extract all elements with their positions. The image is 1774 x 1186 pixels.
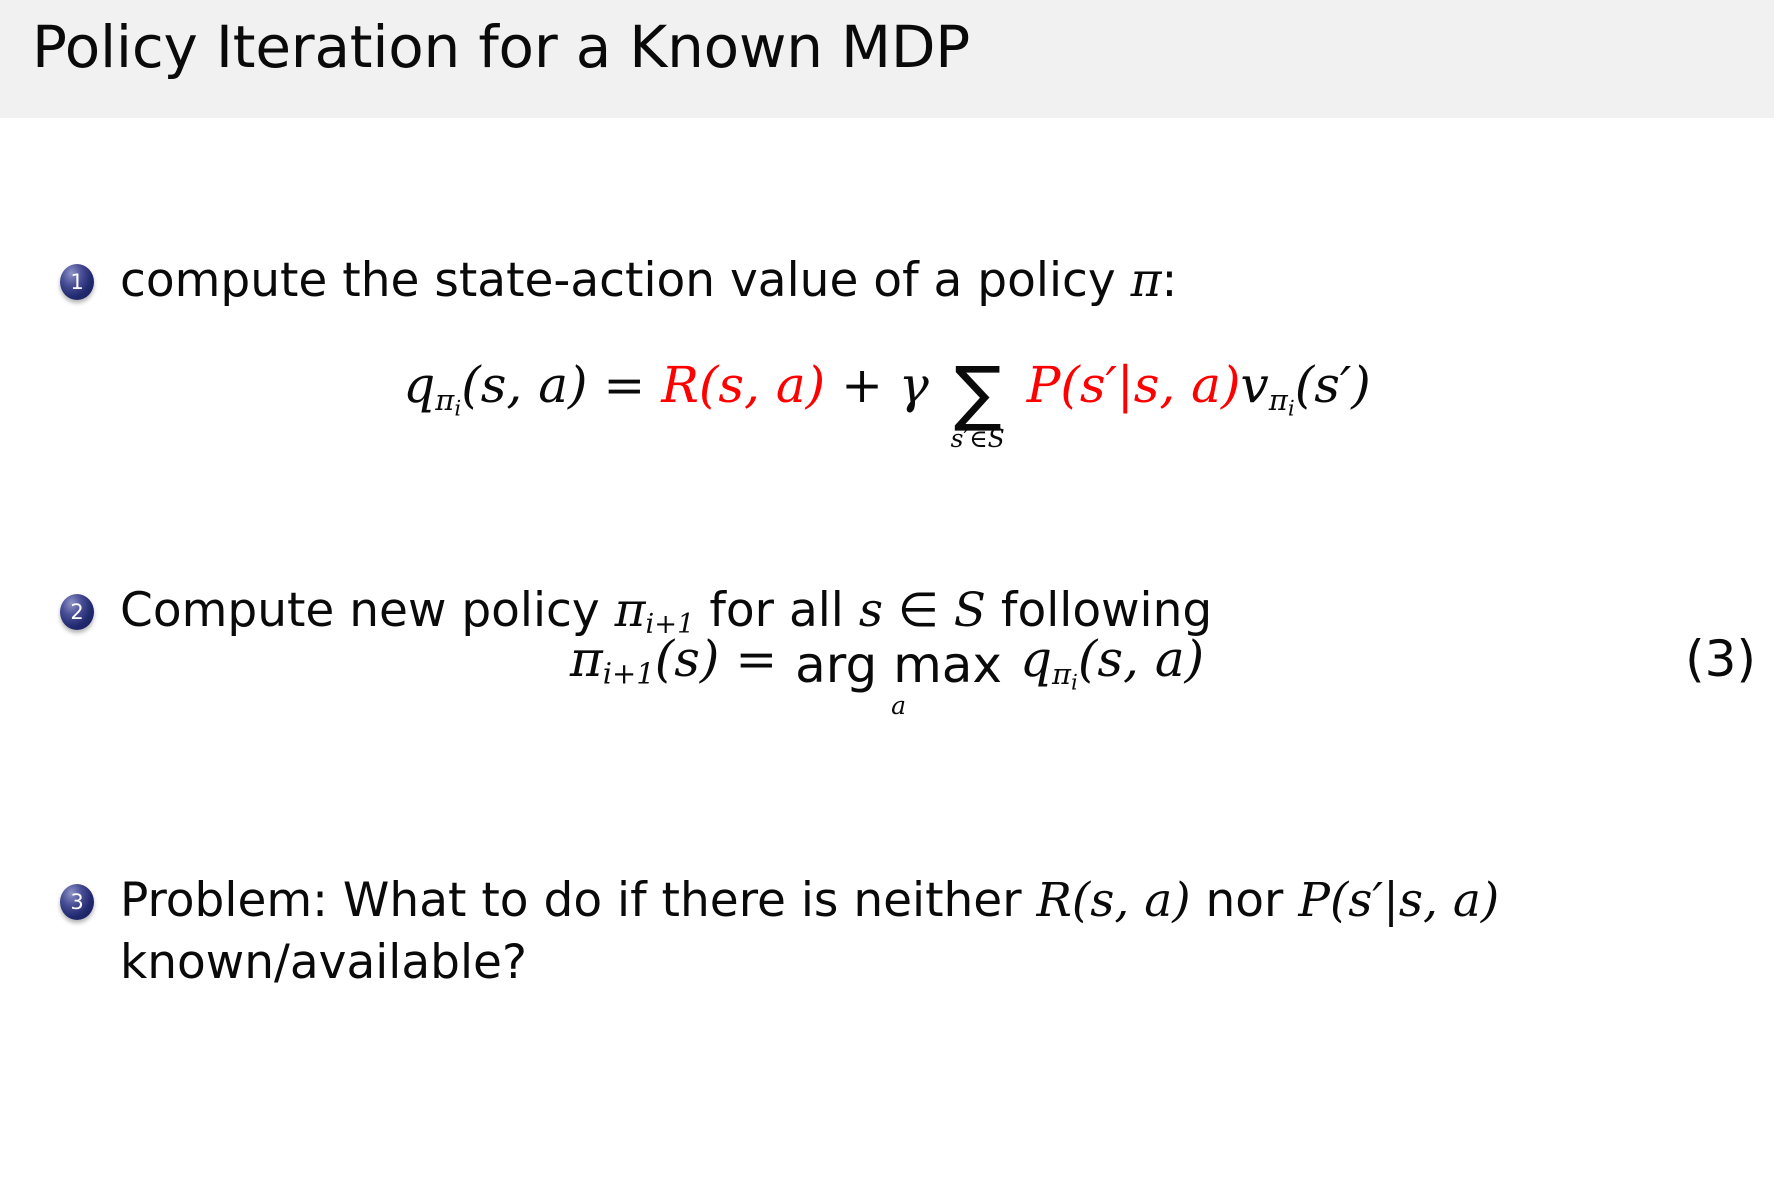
argmax-label: arg max bbox=[795, 636, 1002, 694]
q-function-symbol-2: q bbox=[1020, 630, 1052, 688]
reward-term: R(s, a) bbox=[1036, 873, 1190, 928]
summation-operator: ∑ s′∈S bbox=[951, 363, 1005, 453]
argmax-limit: a bbox=[891, 692, 906, 720]
pi-next-symbol: π bbox=[570, 630, 603, 688]
page-title: Policy Iteration for a Known MDP bbox=[32, 16, 970, 80]
plus-sign: + bbox=[841, 356, 883, 414]
equation-number: (3) bbox=[1685, 630, 1756, 688]
bullet-1-lead: compute the state-action value of a poli… bbox=[120, 253, 1131, 308]
slide-content: 1 compute the state-action value of a po… bbox=[0, 118, 1774, 1186]
policy-improvement-equation-body: πi+1(s) = arg max a qπi(s, a) bbox=[570, 630, 1204, 720]
value-function-symbol: v bbox=[1241, 356, 1269, 414]
equals-sign: = bbox=[603, 356, 645, 414]
bullet-3-text: Problem: What to do if there is neither … bbox=[120, 870, 1499, 994]
argmax-operator: arg max a bbox=[795, 636, 1002, 720]
bullet-3-mid: nor bbox=[1191, 873, 1299, 928]
policy-improvement-equation: πi+1(s) = arg max a qπi(s, a) bbox=[0, 630, 1774, 720]
gamma-symbol: γ bbox=[899, 356, 929, 414]
bullet-1-text: compute the state-action value of a poli… bbox=[120, 250, 1177, 312]
sigma-icon: ∑ bbox=[954, 363, 1002, 423]
q-arguments-2: (s, a) bbox=[1078, 630, 1204, 688]
bullet-3-line2: known/available? bbox=[120, 935, 527, 990]
value-subscript-i: i bbox=[1288, 396, 1295, 421]
pi-next-arguments: (s) bbox=[655, 630, 720, 688]
transition-term: P(s′|s, a) bbox=[1298, 873, 1499, 928]
q-arguments: (s, a) bbox=[461, 356, 587, 414]
summation-limit: s′∈S bbox=[951, 425, 1005, 453]
bullet-marker-3: 3 bbox=[60, 884, 94, 920]
q-subscript-pi-2: πi bbox=[1052, 657, 1078, 691]
bullet-marker-1: 1 bbox=[60, 264, 94, 300]
list-item-bullet-3: 3 Problem: What to do if there is neithe… bbox=[60, 870, 1499, 994]
reward-term-red: R(s, a) bbox=[661, 356, 825, 414]
value-subscript-pi: πi bbox=[1269, 383, 1295, 417]
q-subscript-pi: πi bbox=[435, 383, 461, 417]
pi-symbol: π bbox=[1131, 253, 1162, 308]
slide-header-bar: Policy Iteration for a Known MDP bbox=[0, 0, 1774, 118]
list-item-bullet-1: 1 compute the state-action value of a po… bbox=[60, 250, 1177, 312]
bullet-1-trail: : bbox=[1161, 253, 1177, 308]
q-pi-equation-body: qπi(s, a) = R(s, a) + γ ∑ s′∈S P(s′|s, a… bbox=[403, 356, 1370, 453]
transition-term-red: P(s′|s, a) bbox=[1027, 356, 1241, 414]
equals-sign-2: = bbox=[735, 630, 777, 688]
pi-next-subscript: i+1 bbox=[603, 657, 655, 691]
value-arguments: (s′) bbox=[1295, 356, 1371, 414]
bullet-3-lead: Problem: What to do if there is neither bbox=[120, 873, 1036, 928]
q-subscript-i-2: i bbox=[1071, 670, 1078, 695]
q-function-symbol: q bbox=[403, 356, 435, 414]
q-pi-equation: qπi(s, a) = R(s, a) + γ ∑ s′∈S P(s′|s, a… bbox=[0, 356, 1774, 453]
bullet-marker-2: 2 bbox=[60, 594, 94, 630]
